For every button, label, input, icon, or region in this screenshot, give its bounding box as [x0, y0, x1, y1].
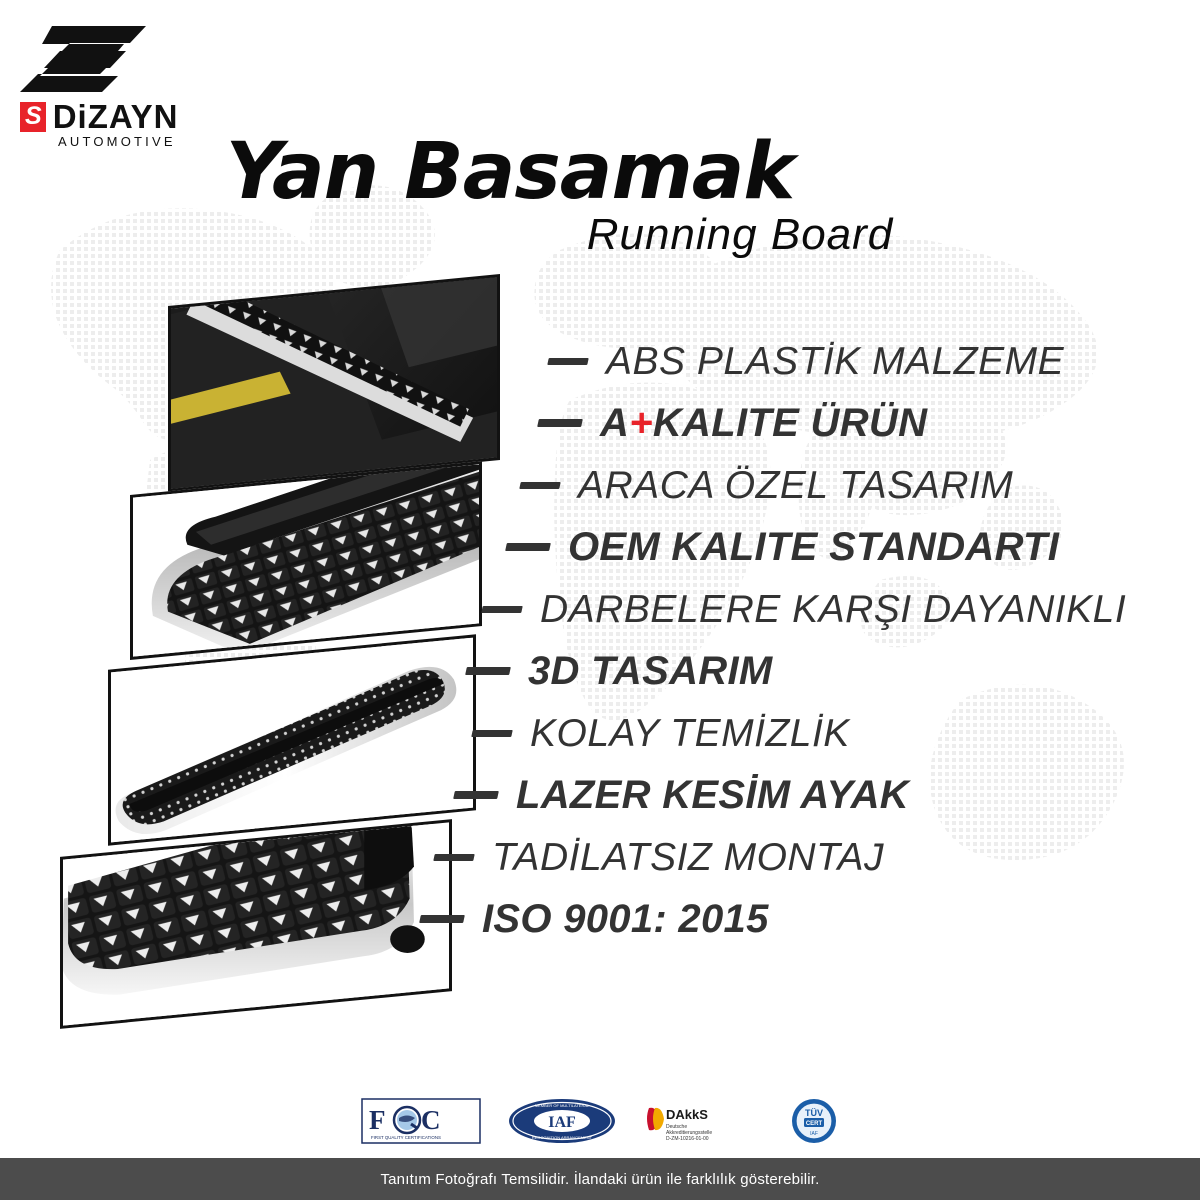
svg-text:DAkkS: DAkkS — [666, 1107, 708, 1122]
feature-item: ARACA ÖZEL TASARIM — [520, 454, 1200, 516]
feature-item: KOLAY TEMİZLİK — [472, 702, 1200, 764]
feature-label: ABS PLASTİK MALZEME — [606, 342, 1064, 381]
feature-item: LAZER KESİM AYAK — [454, 764, 1200, 826]
dash-bullet-icon — [471, 730, 512, 737]
svg-text:D-ZM-10216-01-00: D-ZM-10216-01-00 — [666, 1136, 709, 1142]
tuv-cert-certification-logo: TÜV CERT IAF — [789, 1098, 839, 1144]
svg-text:FIRST QUALITY CERTIFICATIONS: FIRST QUALITY CERTIFICATIONS — [371, 1135, 441, 1140]
advertisement-canvas: S DiZAYN AUTOMOTIVE Yan Basamak Running … — [0, 0, 1200, 1200]
svg-text:RECOGNITION ARRANGEMENT: RECOGNITION ARRANGEMENT — [532, 1135, 593, 1140]
fqc-certification-logo: F C FIRST QUALITY CERTIFICATIONS — [361, 1098, 481, 1144]
iaf-certification-logo: IAF MEMBER OF MULTILATERAL RECOGNITION A… — [507, 1098, 617, 1144]
certification-logo-row: F C FIRST QUALITY CERTIFICATIONS IAF MEM… — [0, 1090, 1200, 1152]
footer-disclaimer-bar: Tanıtım Fotoğrafı Temsilidir. İlandaki ü… — [0, 1158, 1200, 1200]
feature-item: DARBELERE KARŞI DAYANIKLI — [482, 578, 1200, 640]
dash-bullet-icon — [537, 419, 583, 427]
feature-item: A+KALITE ÜRÜN — [538, 392, 1200, 454]
feature-item: 3D TASARIM — [466, 640, 1200, 702]
dash-bullet-icon — [453, 791, 499, 799]
dash-bullet-icon — [419, 915, 465, 923]
s-dizayn-logo-mark — [14, 22, 164, 94]
feature-label: DARBELERE KARŞI DAYANIKLI — [540, 590, 1126, 629]
svg-text:TÜV: TÜV — [805, 1108, 823, 1118]
svg-text:IAF: IAF — [810, 1131, 818, 1137]
logo-s-badge: S — [20, 102, 46, 132]
dash-bullet-icon — [433, 854, 474, 861]
feature-item: ABS PLASTİK MALZEME — [548, 330, 1200, 392]
svg-text:IAF: IAF — [548, 1114, 576, 1131]
plus-accent: + — [629, 401, 653, 445]
feature-item: OEM KALITE STANDARTI — [506, 516, 1200, 578]
svg-text:F: F — [369, 1105, 386, 1135]
logo-brand-name: DiZAYN — [53, 100, 179, 133]
feature-label: LAZER KESİM AYAK — [516, 775, 909, 815]
product-photo-angled-end-detail — [60, 819, 452, 1029]
svg-text:CERT: CERT — [806, 1121, 823, 1127]
feature-label: ARACA ÖZEL TASARIM — [578, 466, 1013, 505]
feature-label: OEM KALITE STANDARTI — [568, 527, 1059, 567]
feature-label: KOLAY TEMİZLİK — [530, 714, 850, 753]
feature-item: TADİLATSIZ MONTAJ — [434, 826, 1200, 888]
title-block: Yan Basamak Running Board — [0, 130, 1200, 260]
svg-text:C: C — [421, 1105, 441, 1135]
feature-label: TADİLATSIZ MONTAJ — [492, 838, 884, 877]
feature-list: ABS PLASTİK MALZEME A+KALITE ÜRÜN ARACA … — [420, 330, 1200, 950]
dash-bullet-icon — [481, 606, 522, 613]
dakks-certification-logo: DAkkS Deutsche Akkreditierungsstelle D-Z… — [643, 1098, 763, 1144]
svg-text:MEMBER OF MULTILATERAL: MEMBER OF MULTILATERAL — [535, 1103, 590, 1108]
footer-disclaimer-text: Tanıtım Fotoğrafı Temsilidir. İlandaki ü… — [380, 1171, 819, 1188]
feature-label: A+KALITE ÜRÜN — [600, 403, 927, 443]
dash-bullet-icon — [505, 543, 551, 551]
feature-label: 3D TASARIM — [528, 651, 772, 691]
dash-bullet-icon — [547, 358, 588, 365]
page-title: Yan Basamak — [0, 130, 1200, 214]
dash-bullet-icon — [519, 482, 560, 489]
dash-bullet-icon — [465, 667, 511, 675]
feature-label: ISO 9001: 2015 — [482, 899, 769, 939]
feature-item: ISO 9001: 2015 — [420, 888, 1200, 950]
page-subtitle: Running Board — [0, 210, 1200, 260]
